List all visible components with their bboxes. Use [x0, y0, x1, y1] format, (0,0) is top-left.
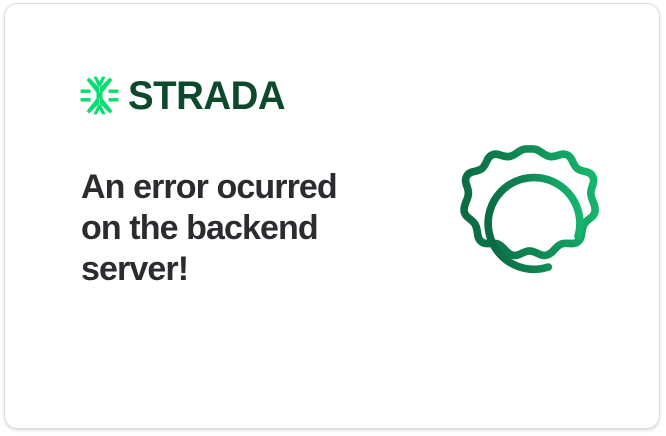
gear-icon — [448, 137, 618, 307]
brand-wordmark: STRADA — [128, 76, 285, 116]
error-message: An error ocurred on the backend server! — [81, 167, 381, 290]
error-card: STRADA An error ocurred on the backend s… — [4, 3, 660, 429]
brand-logo: STRADA — [78, 74, 292, 117]
strada-asterisk-icon — [78, 74, 121, 117]
